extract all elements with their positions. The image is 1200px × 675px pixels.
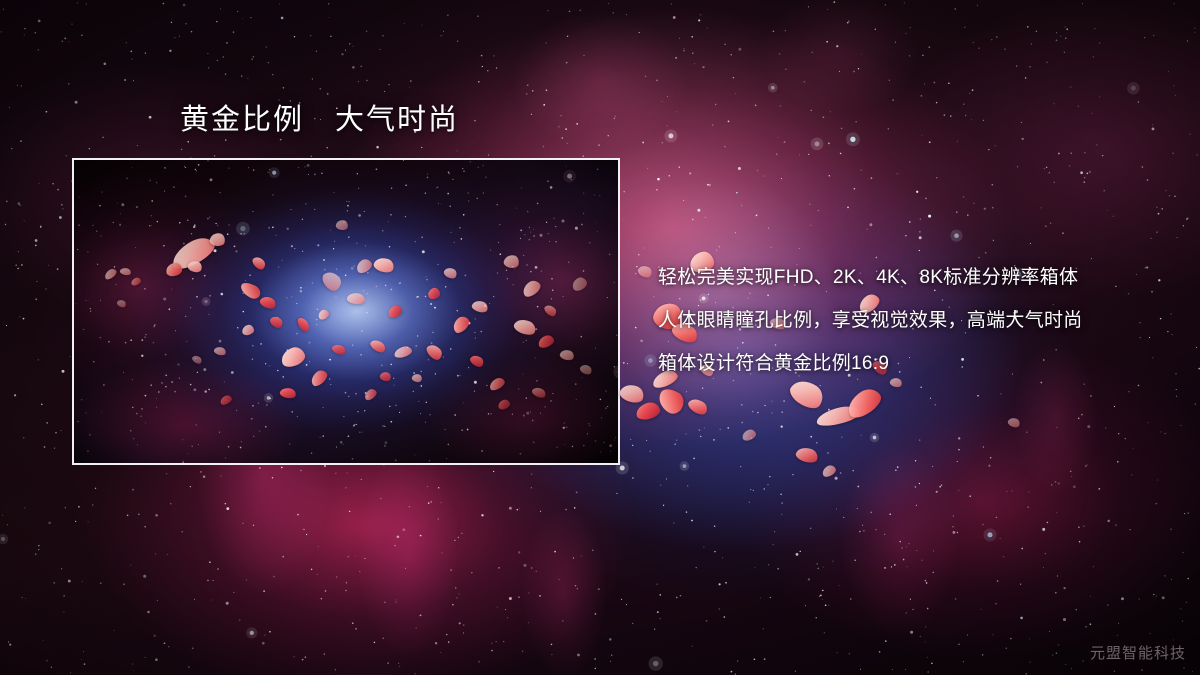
petal bbox=[794, 445, 819, 465]
copy-line-3: 箱体设计符合黄金比例16:9 bbox=[658, 342, 1168, 385]
body-copy: 轻松完美实现FHD、2K、4K、8K标准分辨率箱体 人体眼睛瞳孔比例，享受视觉效… bbox=[658, 256, 1168, 385]
page-title: 黄金比例 大气时尚 bbox=[180, 100, 459, 140]
petal bbox=[635, 401, 662, 422]
copy-line-2: 人体眼睛瞳孔比例，享受视觉效果，高端大气时尚 bbox=[658, 299, 1168, 342]
petal bbox=[741, 428, 758, 442]
petal bbox=[821, 463, 838, 478]
petal bbox=[654, 385, 688, 417]
slide-canvas: 黄金比例 大气时尚 轻松完美实现FHD、2K、4K、8K标准分辨率箱体 人体眼睛… bbox=[0, 0, 1200, 675]
petal bbox=[815, 404, 861, 429]
petal bbox=[1007, 416, 1022, 429]
petal bbox=[618, 381, 646, 405]
copy-line-1: 轻松完美实现FHD、2K、4K、8K标准分辨率箱体 bbox=[658, 256, 1168, 299]
petal bbox=[686, 396, 710, 418]
petal bbox=[636, 263, 654, 280]
image-panel bbox=[72, 158, 620, 465]
petal bbox=[843, 384, 885, 422]
watermark: 元盟智能科技 bbox=[1090, 642, 1186, 663]
panel-nebula-image bbox=[74, 160, 618, 463]
